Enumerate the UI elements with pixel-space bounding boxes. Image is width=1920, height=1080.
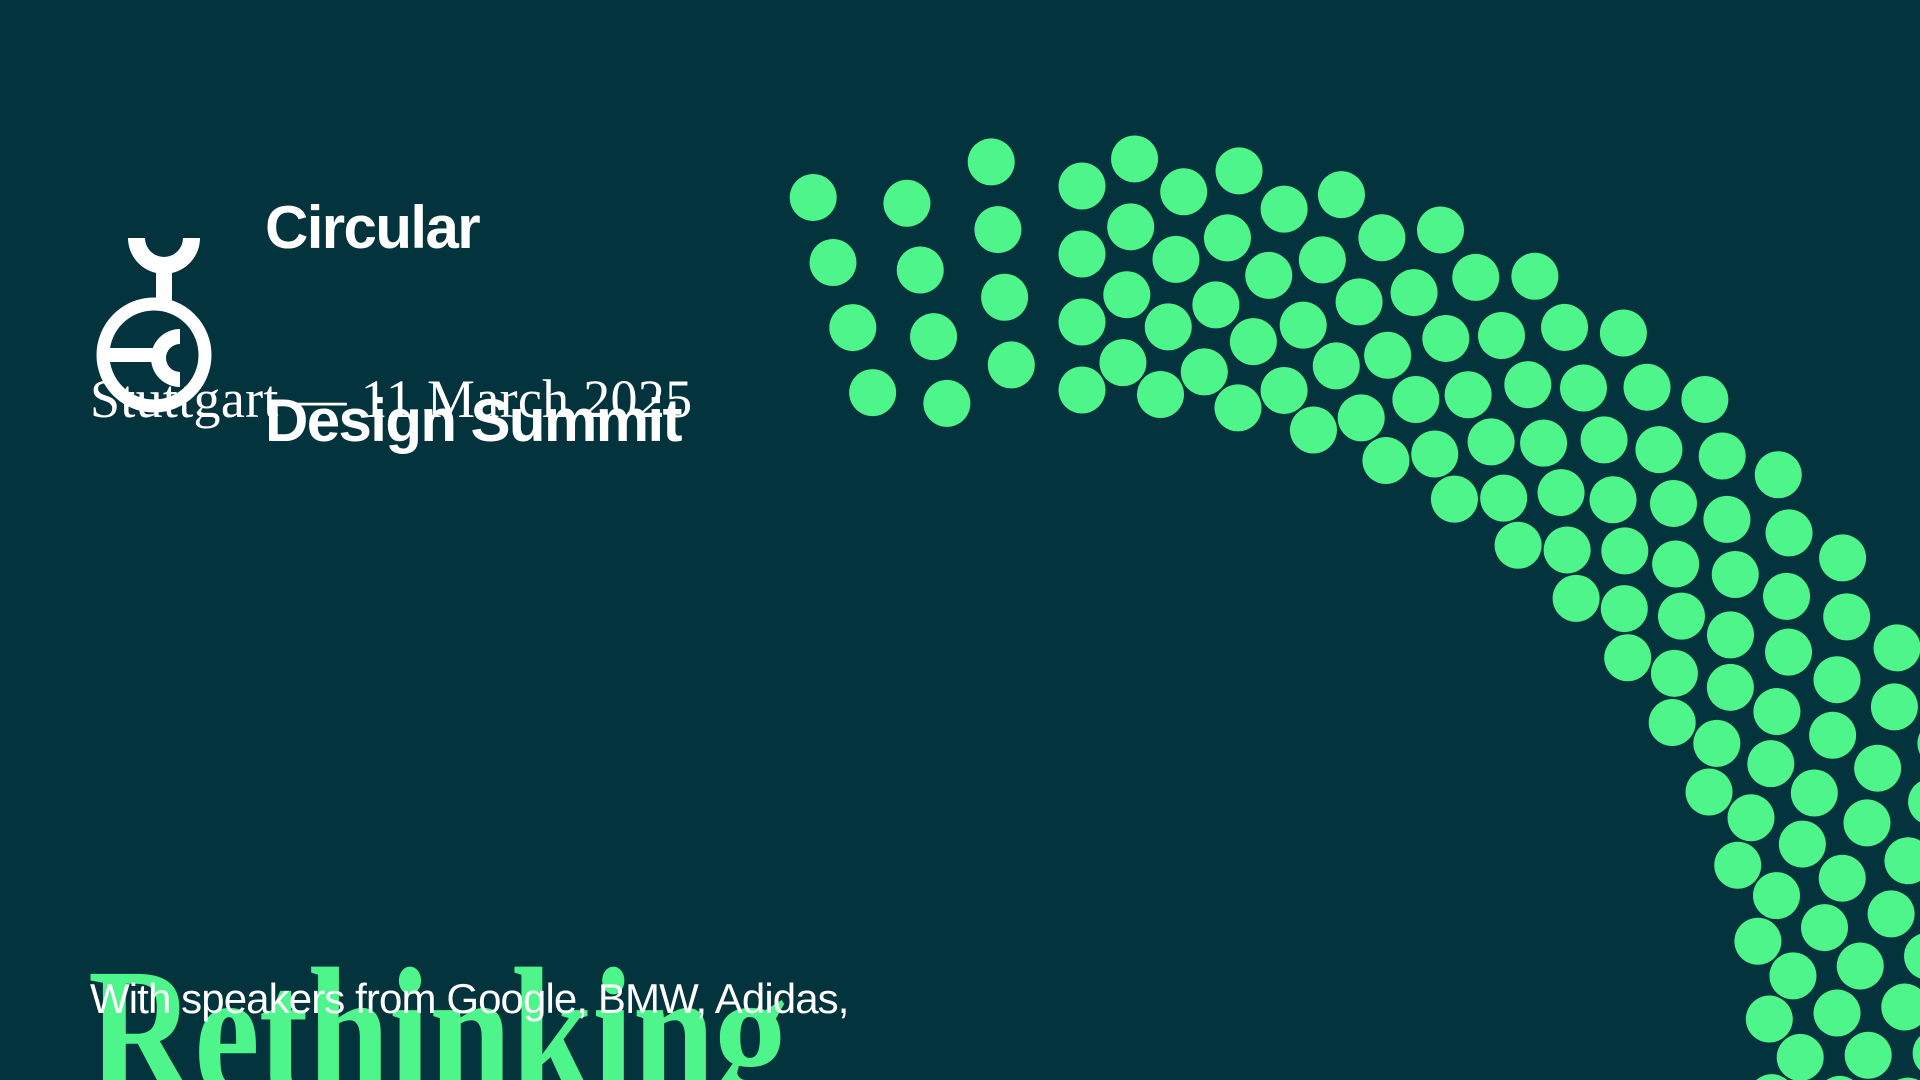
logo-lockup: Circular Design Summit: [88, 68, 681, 582]
logo-wordmark-line-1: Circular: [265, 196, 681, 260]
content-column: Circular Design Summit Stuttgart — 11 Ma…: [88, 0, 1208, 1080]
speakers-blurb: With speakers from Google, BMW, Adidas, …: [90, 878, 849, 1080]
speakers-line-1: With speakers from Google, BMW, Adidas,: [90, 975, 849, 1024]
logo-wordmark: Circular Design Summit: [265, 68, 681, 582]
event-meta-line: Stuttgart — 11 March 2025: [90, 372, 692, 426]
poster-canvas: Circular Design Summit Stuttgart — 11 Ma…: [0, 0, 1920, 1080]
